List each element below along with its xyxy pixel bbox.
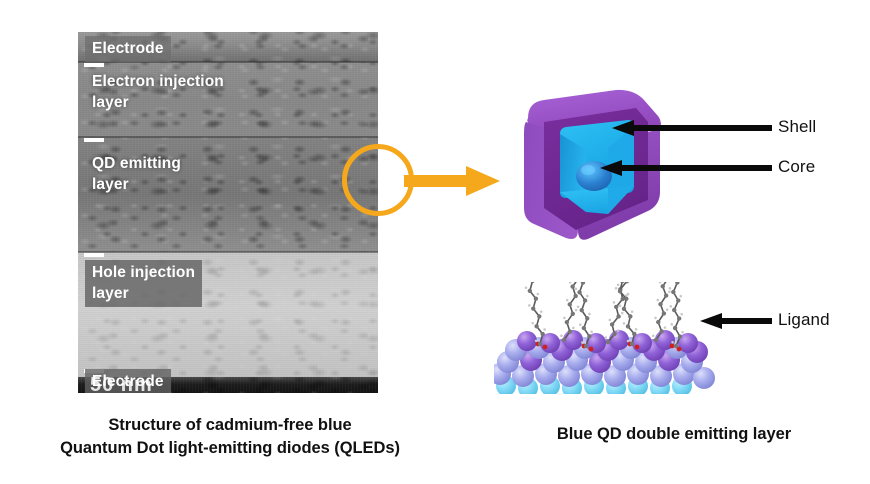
tem-boundary-tick [84,253,104,257]
caption-right-panel: Blue QD double emitting layer [476,423,870,446]
magnify-callout-arrow-icon [404,166,504,196]
tem-scale-bar-label: 50 nm [90,374,153,393]
shell-label: Shell [778,117,816,137]
ligand-label: Ligand [778,310,830,330]
core-arrow-icon [600,158,772,178]
tem-interface-line [78,251,378,253]
tem-boundary-tick [84,63,104,67]
tem-interface-line [78,136,378,138]
core-highlight [581,165,595,175]
ligand-surface-model [494,282,726,394]
tem-cross-section-micrograph: Electrode Electron injection layer QD em… [78,32,378,393]
tem-label-qd-emitting-layer: QD emitting layer [85,151,188,198]
tem-boundary-tick [84,138,104,142]
tem-label-hole-injection-layer: Hole injection layer [85,260,202,307]
shell-arrow-icon [612,118,772,138]
figure-root: Electrode Electron injection layer QD em… [0,0,870,484]
tem-label-electron-injection-layer: Electron injection layer [85,69,231,116]
ligand-arrow-icon [700,311,772,331]
tem-label-electrode-top: Electrode [85,36,171,62]
core-label: Core [778,157,815,177]
caption-left-panel: Structure of cadmium-free blue Quantum D… [40,414,420,460]
nanocrystal-surface-spheres [494,330,715,394]
